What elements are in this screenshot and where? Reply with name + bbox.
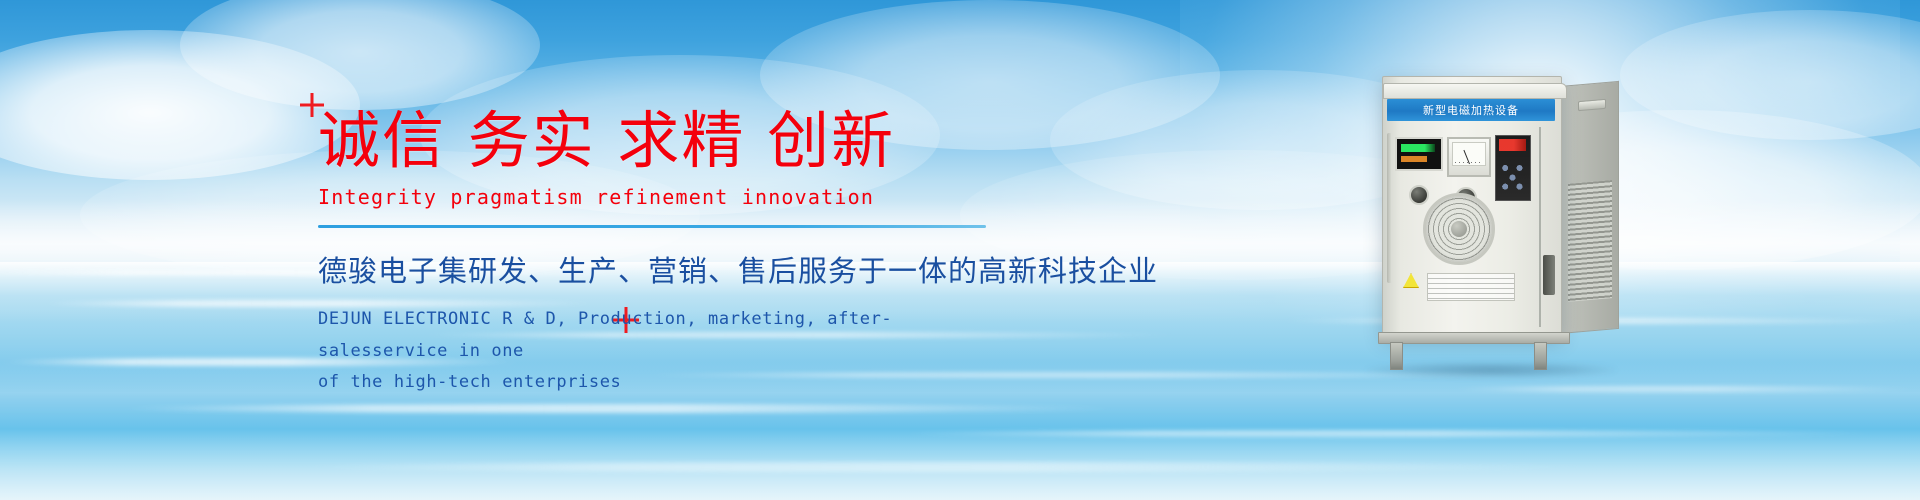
divider [318,225,986,228]
fan-grille [1423,193,1495,265]
digital-display [1395,137,1443,171]
control-knob [1409,185,1429,205]
keypad-screen [1499,139,1526,151]
banner-text-block: 诚信 务实 求精 创新 Integrity pragmatism refinem… [318,108,1018,398]
machine-hinge [1387,133,1392,283]
headline-chinese: 诚信 务实 求精 创新 [318,108,1018,173]
display-segment [1401,144,1435,152]
display-segment-secondary [1401,156,1427,162]
machine-vent-louvers [1568,180,1612,302]
machine-body: 新型电磁加热设备 [1382,76,1562,336]
subtitle-english-line-2: of the high-tech enterprises [318,367,978,398]
promo-banner: 诚信 务实 求精 创新 Integrity pragmatism refinem… [0,0,1920,500]
headline-english: Integrity pragmatism refinement innovati… [318,185,1018,209]
machine-label: 新型电磁加热设备 [1387,99,1555,121]
machine-leg [1534,342,1547,370]
machine-door-seam [1539,127,1541,327]
machine-shadow [1366,362,1616,378]
subtitle-chinese: 德骏电子集研发、生产、营销、售后服务于一体的高新科技企业 [318,248,1018,290]
analog-gauge [1447,137,1491,177]
warning-triangle-icon [1403,273,1419,288]
spec-sticker [1427,273,1515,301]
machine-top-cap [1383,83,1567,99]
subtitle-english-line-1: DEJUN ELECTRONIC R & D, Production, mark… [318,304,978,367]
product-image-heating-machine: 新型电磁加热设备 [1382,62,1632,352]
door-latch [1543,255,1555,295]
machine-leg [1390,342,1403,370]
keypad-buttons [1500,162,1526,192]
subtitle-english: DEJUN ELECTRONIC R & D, Production, mark… [318,304,978,398]
keypad-module [1495,135,1531,201]
